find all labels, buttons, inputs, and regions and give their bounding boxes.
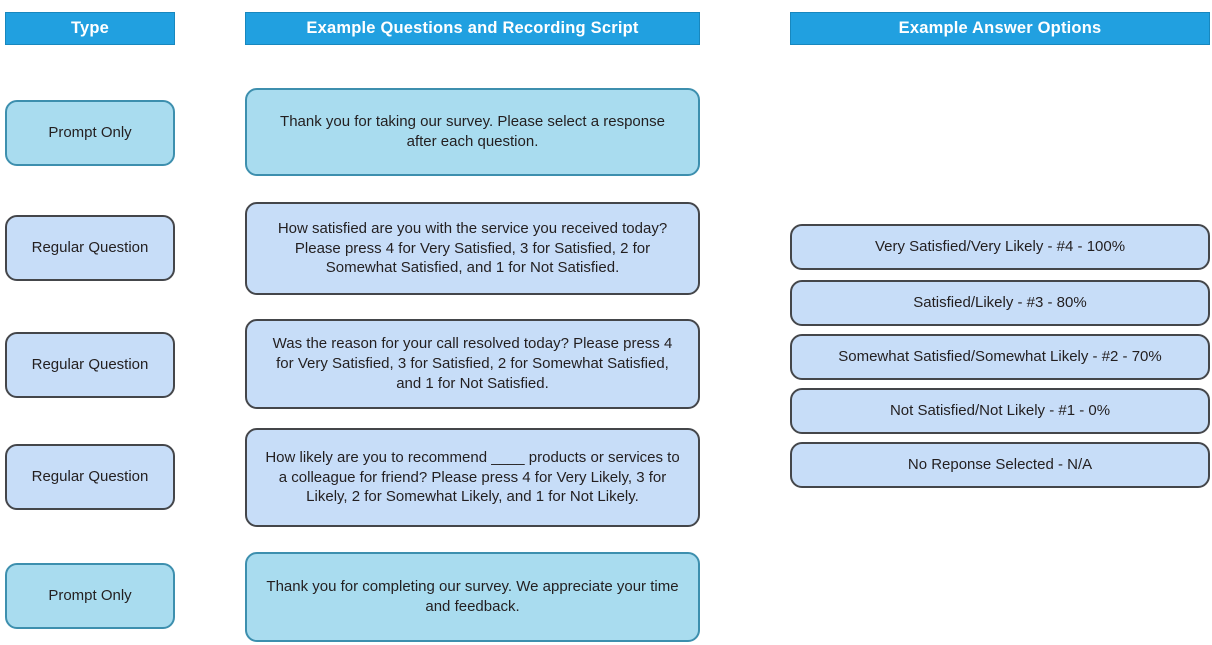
script-box-row-5: Thank you for completing our survey. We … (245, 552, 700, 642)
column-header-type: Type (5, 12, 175, 45)
script-text-row-2: How satisfied are you with the service y… (264, 219, 682, 278)
survey-script-table: Type Example Questions and Recording Scr… (0, 0, 1212, 645)
answer-option-5: No Reponse Selected - N/A (790, 442, 1210, 488)
answer-option-4: Not Satisfied/Not Likely - #1 - 0% (790, 388, 1210, 434)
script-text-row-5: Thank you for completing our survey. We … (264, 577, 682, 617)
type-box-row-2: Regular Question (5, 215, 175, 281)
answer-option-2: Satisfied/Likely - #3 - 80% (790, 280, 1210, 326)
column-header-answers: Example Answer Options (790, 12, 1210, 45)
script-text-row-3: Was the reason for your call resolved to… (264, 334, 682, 393)
answer-option-3: Somewhat Satisfied/Somewhat Likely - #2 … (790, 334, 1210, 380)
script-box-row-2: How satisfied are you with the service y… (245, 202, 700, 295)
column-header-script: Example Questions and Recording Script (245, 12, 700, 45)
answer-option-1: Very Satisfied/Very Likely - #4 - 100% (790, 224, 1210, 270)
type-box-row-5: Prompt Only (5, 563, 175, 629)
type-box-row-4: Regular Question (5, 444, 175, 510)
script-box-row-4: How likely are you to recommend ____ pro… (245, 428, 700, 527)
script-text-row-4: How likely are you to recommend ____ pro… (264, 448, 682, 507)
type-box-row-1: Prompt Only (5, 100, 175, 166)
script-box-row-1: Thank you for taking our survey. Please … (245, 88, 700, 176)
script-text-row-1: Thank you for taking our survey. Please … (264, 112, 682, 152)
type-box-row-3: Regular Question (5, 332, 175, 398)
script-box-row-3: Was the reason for your call resolved to… (245, 319, 700, 409)
